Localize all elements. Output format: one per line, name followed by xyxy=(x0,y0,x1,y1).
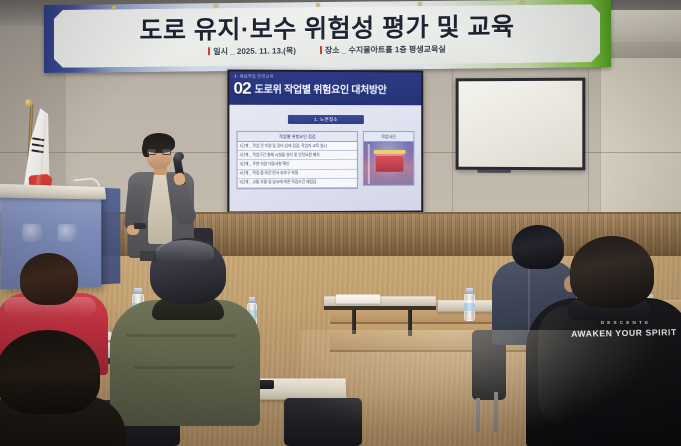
banner-place: 장소 _ 수지물아트홀 1층 평생교육실 xyxy=(320,43,446,55)
water-bottle xyxy=(464,288,475,321)
lecture-hall-photo: 도로 유지·보수 위험성 평가 및 교육 일시 _ 2025. 11. 13.(… xyxy=(0,0,681,446)
slide-photo xyxy=(363,142,414,186)
attendee-head xyxy=(0,330,100,414)
microphone-head-icon xyxy=(173,151,184,162)
photo-pole xyxy=(368,144,369,184)
lectern-emblem xyxy=(22,224,42,242)
attendee-hair-highlight xyxy=(156,240,214,262)
slide-photo-caption: 작업사진 xyxy=(363,131,414,142)
slide-section-pill: 1. 노면청소 xyxy=(288,115,364,124)
desk-leg xyxy=(408,310,412,336)
jacket-slogan-text: AWAKEN YOUR SPIRIT xyxy=(558,327,681,339)
slide-table-row: 2단계 _ 작업구간 통제 시설물 설치 및 안전요원 배치 xyxy=(238,151,357,160)
slide-header: Ⅱ. 제설작업 안전교육 02 도로위 작업별 위험요인 대처방안 xyxy=(229,72,421,106)
banner-title: 도로 유지·보수 위험성 평가 및 교육 xyxy=(139,15,514,44)
attendee-olive-jacket xyxy=(104,238,264,446)
slide-table-row: 4단계 _ 작업 중 야간 반사 보호구 착용 xyxy=(238,169,357,178)
jacket-fold xyxy=(126,334,236,337)
attendee-head xyxy=(570,236,654,308)
jacket-fold xyxy=(134,366,234,369)
eyeglasses-icon xyxy=(147,149,171,155)
lectern-emblem-2 xyxy=(58,224,77,242)
slide-heading: 도로위 작업별 위험요인 대처방안 xyxy=(255,81,387,97)
whiteboard-surface xyxy=(459,81,583,168)
banner-date-text: 일시 _ 2025. 11. 13.(목) xyxy=(213,45,296,57)
slide-table-row: 3단계 _ 주변 차량 이동사항 확인 xyxy=(238,160,357,169)
slide-content-grid: 작업별 위험요인 점검 1단계 _ 작업 전 차량 및 장비 상태 점검, 작업… xyxy=(237,131,415,189)
paper-document xyxy=(336,294,380,303)
event-banner: 도로 유지·보수 위험성 평가 및 교육 일시 _ 2025. 11. 13.(… xyxy=(44,0,611,73)
whiteboard-marker-tray xyxy=(477,170,511,173)
presentation-slide: Ⅱ. 제설작업 안전교육 02 도로위 작업별 위험요인 대처방안 1. 노면청… xyxy=(229,72,421,212)
slide-table-row: 5단계 _ 교통 흐름 및 날씨에 따른 작업조건 재점검 xyxy=(238,179,357,189)
jacket-brand-text: DESCENTE xyxy=(568,320,681,325)
tick-marker-icon xyxy=(320,46,322,54)
attendee-foreground xyxy=(0,330,116,446)
slide-table-header: 작업별 위험요인 점검 xyxy=(238,132,357,142)
attendee-black-jacket: DESCENTE AWAKEN YOUR SPIRIT xyxy=(524,236,681,446)
presenter-clicker xyxy=(134,223,146,229)
chair-leg xyxy=(494,392,498,432)
tick-marker-icon xyxy=(208,47,210,55)
slide-body: 1. 노면청소 작업별 위험요인 점검 1단계 _ 작업 전 차량 및 장비 상… xyxy=(229,105,421,212)
slide-table: 작업별 위험요인 점검 1단계 _ 작업 전 차량 및 장비 상태 점검, 작업… xyxy=(237,131,358,189)
slide-photo-block: 작업사진 xyxy=(363,131,414,189)
slide-number: 02 xyxy=(233,80,250,97)
desk-leg xyxy=(352,310,356,334)
banner-date: 일시 _ 2025. 11. 13.(목) xyxy=(208,45,296,57)
whiteboard xyxy=(456,78,586,171)
banner-place-text: 장소 _ 수지물아트홀 1층 평생교육실 xyxy=(325,43,446,55)
attendee-head xyxy=(20,253,78,305)
projection-screen: Ⅱ. 제설작업 안전교육 02 도로위 작업별 위험요인 대처방안 1. 노면청… xyxy=(227,69,423,213)
chair-leg xyxy=(476,398,480,432)
lectern-gooseneck-mic-icon xyxy=(73,177,100,194)
banner-subtitle: 일시 _ 2025. 11. 13.(목) 장소 _ 수지물아트홀 1층 평생교… xyxy=(208,43,445,56)
desk-edge xyxy=(324,306,436,310)
photo-truck xyxy=(376,154,404,172)
banner-inner: 도로 유지·보수 위험성 평가 및 교육 일시 _ 2025. 11. 13.(… xyxy=(54,4,600,68)
slide-title-row: 02 도로위 작업별 위험요인 대처방안 xyxy=(233,80,386,98)
slide-table-row: 1단계 _ 작업 전 차량 및 장비 상태 점검, 작업자 교육 실시 xyxy=(238,142,357,151)
chair xyxy=(284,398,362,446)
